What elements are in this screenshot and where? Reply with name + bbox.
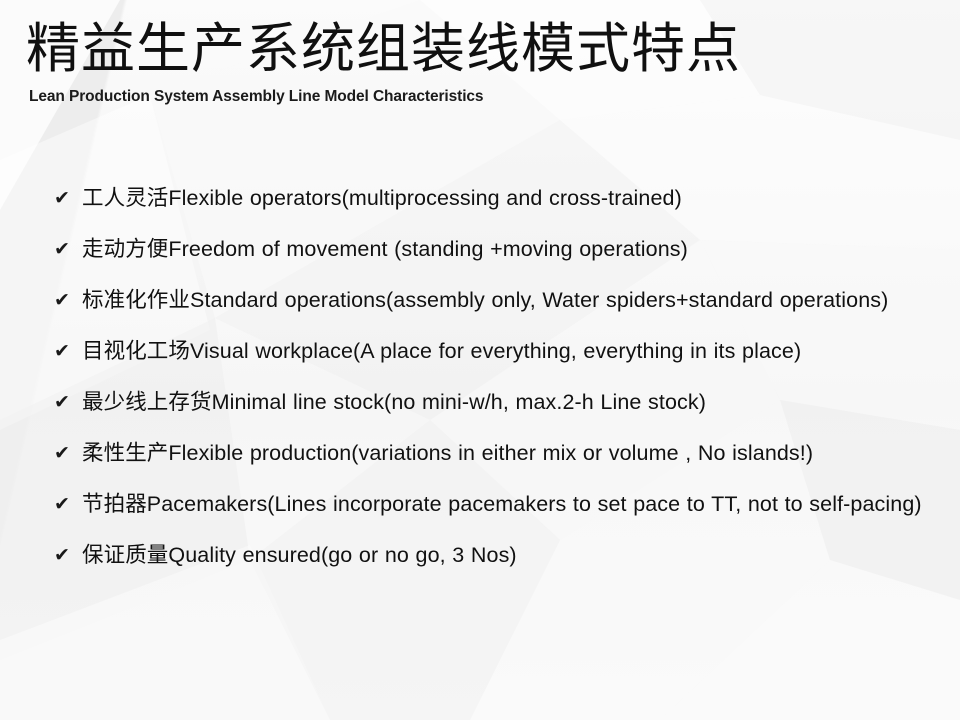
page-title: 精益生产系统组装线模式特点 — [26, 19, 741, 79]
checkmark-icon: ✔ — [50, 336, 82, 367]
list-item: ✔ 节拍器Pacemakers(Lines incorporate pacema… — [50, 489, 950, 520]
list-item-label: 标准化作业Standard operations(assembly only, … — [82, 285, 944, 316]
list-item-label: 最少线上存货Minimal line stock(no mini-w/h, ma… — [82, 387, 944, 418]
list-item: ✔ 走动方便Freedom of movement (standing +mov… — [50, 234, 950, 265]
list-item: ✔ 标准化作业Standard operations(assembly only… — [50, 285, 950, 316]
list-item-label: 目视化工场Visual workplace(A place for everyt… — [82, 336, 944, 367]
list-item: ✔ 最少线上存货Minimal line stock(no mini-w/h, … — [50, 387, 950, 418]
list-item-label: 柔性生产Flexible production(variations in ei… — [82, 438, 944, 469]
list-item: ✔ 工人灵活Flexible operators(multiprocessing… — [50, 183, 950, 214]
list-item-label: 工人灵活Flexible operators(multiprocessing a… — [82, 183, 944, 214]
list-item: ✔ 目视化工场Visual workplace(A place for ever… — [50, 336, 950, 367]
checkmark-icon: ✔ — [50, 183, 82, 214]
slide-canvas: 精益生产系统组装线模式特点 Lean Production System Ass… — [0, 0, 960, 720]
list-item-label: 保证质量Quality ensured(go or no go, 3 Nos) — [82, 540, 944, 571]
bullet-list: ✔ 工人灵活Flexible operators(multiprocessing… — [50, 183, 950, 591]
checkmark-icon: ✔ — [50, 387, 82, 418]
checkmark-icon: ✔ — [50, 285, 82, 316]
checkmark-icon: ✔ — [50, 540, 82, 571]
list-item: ✔ 保证质量Quality ensured(go or no go, 3 Nos… — [50, 540, 950, 571]
page-subtitle: Lean Production System Assembly Line Mod… — [29, 88, 483, 106]
checkmark-icon: ✔ — [50, 234, 82, 265]
checkmark-icon: ✔ — [50, 438, 82, 469]
list-item: ✔ 柔性生产Flexible production(variations in … — [50, 438, 950, 469]
list-item-label: 走动方便Freedom of movement (standing +movin… — [82, 234, 944, 265]
checkmark-icon: ✔ — [50, 489, 82, 520]
list-item-label: 节拍器Pacemakers(Lines incorporate pacemake… — [82, 489, 944, 520]
